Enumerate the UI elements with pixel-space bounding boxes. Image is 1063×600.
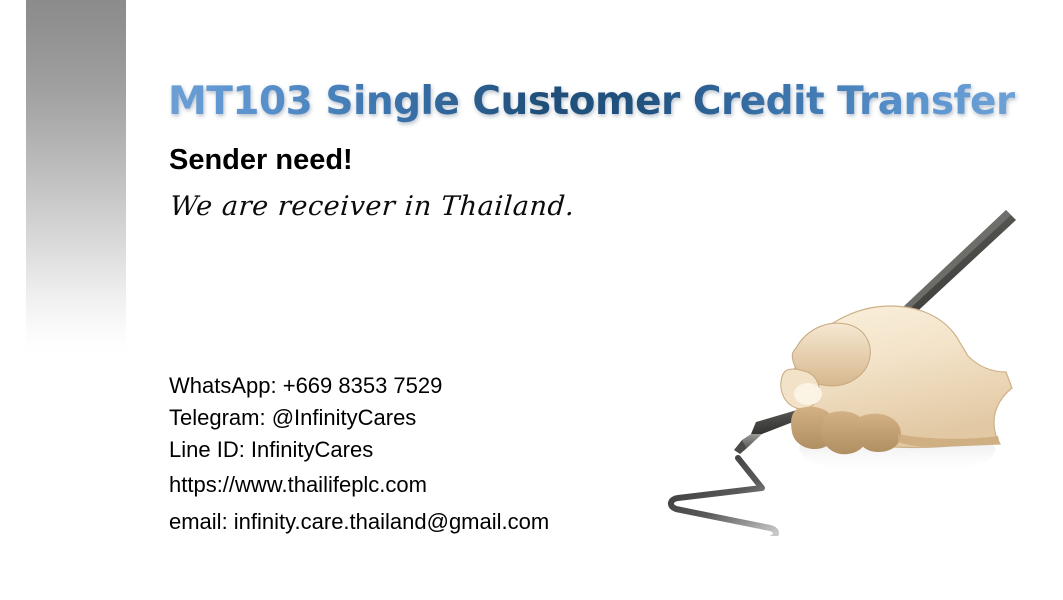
contact-details: WhatsApp: +669 8353 7529 Telegram: @Infi… — [169, 370, 689, 540]
hand-writing-with-pen-image — [650, 196, 1050, 536]
contact-line-email[interactable]: email: infinity.care.thailand@gmail.com — [169, 503, 689, 540]
signature-squiggle — [671, 458, 776, 536]
page-title: MT103 Single Customer Credit Transfer — [168, 79, 1015, 124]
headline-text: Sender need! — [169, 144, 353, 177]
contact-line-whatsapp: WhatsApp: +669 8353 7529 — [169, 370, 689, 402]
contact-line-telegram: Telegram: @InfinityCares — [169, 402, 689, 434]
slide-canvas: MT103 Single Customer Credit Transfer Se… — [0, 0, 1063, 600]
contact-line-lineid: Line ID: InfinityCares — [169, 434, 689, 466]
contact-line-website[interactable]: https://www.thailifeplc.com — [169, 466, 689, 503]
decorative-gradient-bar — [26, 0, 126, 352]
hand-knuckle-highlight — [794, 383, 822, 405]
script-subtitle: We are receiver in Thailand. — [169, 191, 576, 222]
